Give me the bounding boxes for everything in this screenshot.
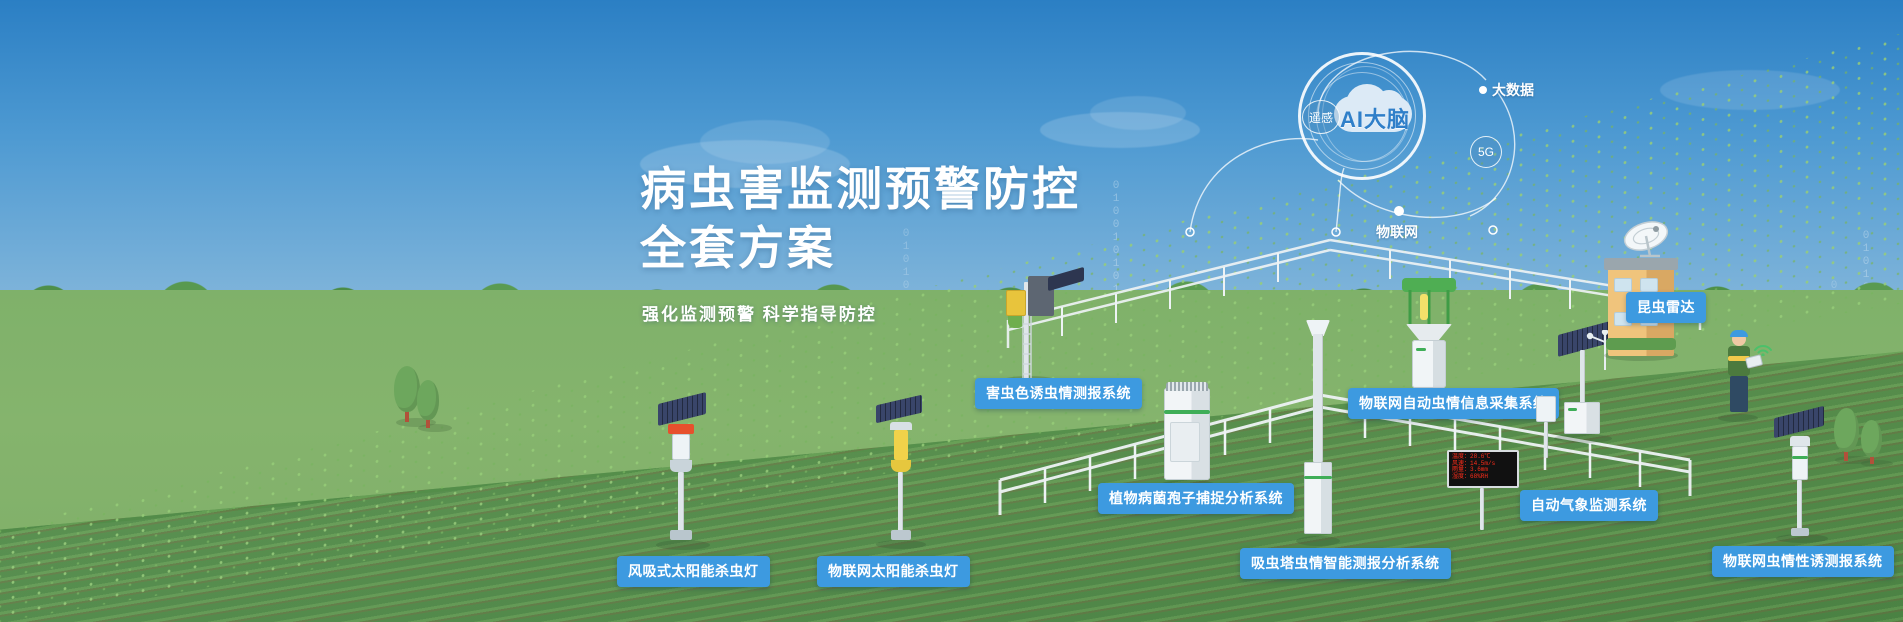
weather-cabinet-led xyxy=(1568,408,1577,411)
callout-suction-tower[interactable]: 吸虫塔虫情智能测报分析系统 xyxy=(1240,548,1451,579)
worker-legs xyxy=(1730,376,1748,412)
equipment-shadow xyxy=(656,540,710,550)
lamp-head xyxy=(668,424,694,434)
node-big-data-label[interactable]: 大数据 xyxy=(1492,80,1534,100)
equipment-iot-pheromone[interactable] xyxy=(1770,412,1846,544)
infographic-banner: 01001010110100 01010011010 0101001011011… xyxy=(0,0,1903,622)
led-line: 湿度：68%RH xyxy=(1452,474,1514,481)
worker-cap xyxy=(1730,330,1748,337)
cabinet-green-stripe xyxy=(1164,410,1210,414)
equipment-iot-pest-collector[interactable] xyxy=(1398,278,1474,398)
pheromone-head xyxy=(1790,436,1810,446)
lamp-collector xyxy=(670,460,692,472)
node-iot-label[interactable]: 物联网 xyxy=(1376,222,1418,242)
trap-ladder xyxy=(1020,316,1034,380)
callout-spore-capture[interactable]: 植物病菌孢子捕捉分析系统 xyxy=(1098,483,1294,514)
lamp-pole xyxy=(898,472,903,534)
ai-orbit-arcs xyxy=(1140,28,1580,258)
headline-line-2: 全套方案 xyxy=(640,219,1081,278)
equipment-spore-capture[interactable] xyxy=(1158,380,1222,490)
wifi-icon xyxy=(1752,338,1774,356)
callout-pest-color-trap[interactable]: 害虫色诱虫情测报系统 xyxy=(975,378,1142,409)
satellite-dish-icon xyxy=(1616,220,1678,266)
tree xyxy=(1858,420,1888,468)
lamp-tube xyxy=(672,434,690,460)
pheromone-band xyxy=(1792,456,1808,459)
ai-brain-hub: AI大脑 遥感 5G 大数据 物联网 xyxy=(1150,40,1570,280)
cabinet-top-vent xyxy=(1166,382,1208,391)
lamp-collector xyxy=(891,460,911,472)
led-weather-display[interactable]: 温度：28.6℃ 风速：14.5m/s 雨量：3.6mm 湿度：68%RH xyxy=(1447,450,1519,488)
node-remote-sensing[interactable]: 遥感 xyxy=(1302,100,1340,134)
radar-window xyxy=(1614,278,1632,292)
callout-insect-radar[interactable]: 昆虫雷达 xyxy=(1626,292,1706,323)
lamp-base xyxy=(891,530,911,540)
sensor-pole xyxy=(1544,422,1548,458)
equipment-suction-tower[interactable] xyxy=(1296,320,1340,546)
pheromone-pole xyxy=(1797,480,1802,530)
lamp-tube xyxy=(894,430,908,460)
collector-indicator xyxy=(1416,348,1426,351)
sensor-box xyxy=(1536,396,1556,422)
callout-wind-suction-solar-lamp[interactable]: 风吸式太阳能杀虫灯 xyxy=(617,556,770,587)
collector-frame xyxy=(1404,290,1454,326)
node-big-data-dot xyxy=(1479,86,1487,94)
radar-window xyxy=(1640,278,1658,292)
worker-shadow xyxy=(1718,414,1758,422)
tower-cabinet xyxy=(1304,462,1332,534)
equipment-wind-suction-solar-lamp[interactable] xyxy=(650,398,720,550)
tower-shaft xyxy=(1313,334,1323,462)
node-iot-dot xyxy=(1394,206,1404,216)
cloud-decoration xyxy=(700,120,830,164)
equipment-iot-solar-lamp[interactable] xyxy=(872,400,936,550)
field-worker xyxy=(1716,330,1768,422)
equipment-shadow xyxy=(1296,536,1340,546)
equipment-pest-color-trap[interactable] xyxy=(1000,272,1086,384)
ai-core-label: AI大脑 xyxy=(1340,102,1410,134)
radar-hedge xyxy=(1606,338,1676,350)
callout-auto-weather[interactable]: 自动气象监测系统 xyxy=(1520,490,1658,521)
cabinet-door-panel xyxy=(1170,422,1200,462)
headline-line-1: 病虫害监测预警防控 xyxy=(640,160,1081,219)
page-title: 病虫害监测预警防控 全套方案 xyxy=(640,160,1081,278)
callout-iot-pheromone[interactable]: 物联网虫情性诱测报系统 xyxy=(1712,546,1894,577)
tree xyxy=(414,380,444,432)
callout-iot-pest-collector[interactable]: 物联网自动虫情信息采集系统 xyxy=(1348,388,1559,419)
collector-lamp xyxy=(1420,294,1428,320)
lamp-cap xyxy=(890,422,912,430)
node-5g[interactable]: 5G xyxy=(1470,136,1502,168)
equipment-sensor-post[interactable] xyxy=(1528,396,1562,460)
worker-tablet xyxy=(1745,354,1763,369)
tower-cabinet-band xyxy=(1304,476,1332,479)
lamp-base xyxy=(670,530,692,540)
led-display-pole xyxy=(1480,488,1484,530)
callout-iot-solar-lamp[interactable]: 物联网太阳能杀虫灯 xyxy=(817,556,970,587)
equipment-shadow xyxy=(876,540,926,549)
lamp-pole xyxy=(678,472,684,534)
node-5g-label: 5G xyxy=(1478,145,1494,159)
trap-yellow-board xyxy=(1006,290,1026,316)
pheromone-body xyxy=(1792,446,1808,480)
solar-panel xyxy=(658,392,706,426)
page-subtitle: 强化监测预警 科学指导防控 xyxy=(642,300,877,325)
pheromone-base xyxy=(1791,528,1809,536)
node-remote-sensing-label: 遥感 xyxy=(1309,109,1333,126)
